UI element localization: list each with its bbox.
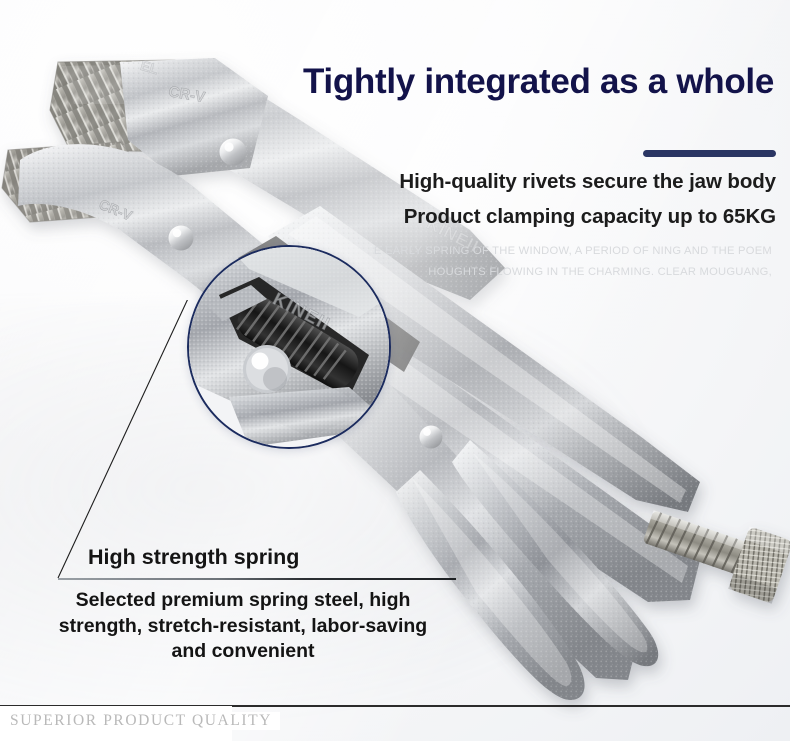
page-headline: Tightly integrated as a whole xyxy=(303,62,774,102)
watermark-line-2: HOUGHTS FLOWING IN THE CHARMING. CLEAR M… xyxy=(352,262,772,283)
callout-label-spring: High strength spring xyxy=(88,545,299,570)
product-marketing-banner: CR-V CR-V xyxy=(0,0,790,741)
feature-subline-rivets: High-quality rivets secure the jaw body xyxy=(399,170,776,194)
watermark-line-1: E EARLY SPRING OF THE WINDOW, A PERIOD O… xyxy=(352,241,772,262)
callout-underline xyxy=(58,578,456,580)
accent-divider-bar xyxy=(643,150,776,157)
callout-description-spring: Selected premium spring steel, high stre… xyxy=(48,588,438,665)
decorative-watermark-text: E EARLY SPRING OF THE WINDOW, A PERIOD O… xyxy=(352,241,772,282)
feature-subline-capacity: Product clamping capacity up to 65KG xyxy=(404,205,776,229)
footer-tagline: SUPERIOR PRODUCT QUALITY xyxy=(10,712,280,730)
